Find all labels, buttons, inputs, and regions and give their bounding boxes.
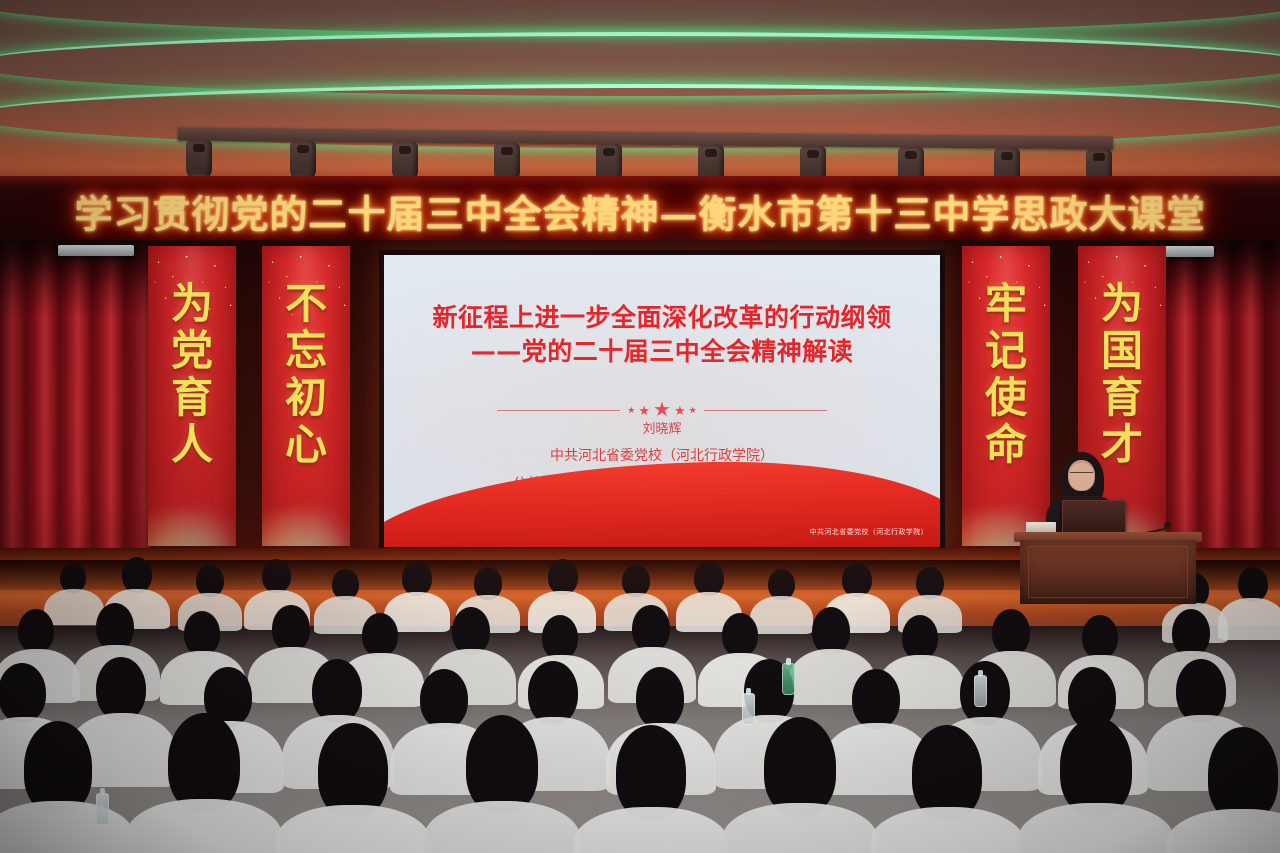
couplet-char: 人 bbox=[171, 421, 213, 468]
lecture-hall-scene: 学习贯彻党的二十届三中全会精神—衡水市第十三中学思政大课堂 为 党 育 人 不 … bbox=[0, 0, 1280, 853]
couplet-char: 忘 bbox=[285, 327, 327, 374]
star-icon: ★ bbox=[674, 404, 686, 417]
podium-body bbox=[1020, 540, 1196, 604]
couplet-char: 记 bbox=[985, 327, 1027, 374]
couplet-char: 国 bbox=[1101, 327, 1143, 374]
couplet-left-inner: 不 忘 初 心 bbox=[262, 246, 350, 546]
water-bottle bbox=[742, 693, 755, 725]
star-icon: ★ bbox=[638, 404, 650, 417]
couplet-left-outer: 为 党 育 人 bbox=[148, 246, 236, 546]
slide-title-line2: ——党的二十届三中全会精神解读 bbox=[384, 333, 940, 372]
presentation-slide: 新征程上进一步全面深化改革的行动纲领 ——党的二十届三中全会精神解读 ★ ★ ★… bbox=[384, 255, 940, 547]
couplet-char: 才 bbox=[1101, 421, 1143, 468]
slide-affiliation: 中共河北省委党校（河北行政学院） bbox=[384, 449, 940, 464]
couplet-char: 为 bbox=[171, 280, 213, 327]
divider-rule-left bbox=[497, 410, 620, 411]
ceiling-led-strip-3 bbox=[0, 80, 1280, 114]
led-banner-text: 学习贯彻党的二十届三中全会精神—衡水市第十三中学思政大课堂 bbox=[8, 184, 1273, 239]
couplet-char: 不 bbox=[285, 280, 327, 327]
couplet-char: 使 bbox=[985, 374, 1027, 421]
spotlight-icon bbox=[290, 141, 316, 181]
couplet-char: 为 bbox=[1101, 280, 1143, 327]
ceiling bbox=[0, 0, 1280, 182]
couplet-char: 初 bbox=[285, 374, 327, 421]
couplet-char: 党 bbox=[171, 327, 213, 374]
water-bottle bbox=[96, 793, 109, 825]
slide-presenter-name: 刘晓辉 bbox=[384, 423, 940, 437]
ceiling-led-strip-2 bbox=[0, 28, 1280, 62]
couplet-right-inner: 牢 记 使 命 bbox=[962, 246, 1050, 546]
star-icon: ★ bbox=[653, 400, 671, 420]
couplet-char: 心 bbox=[285, 421, 327, 468]
led-banner-panel: 学习贯彻党的二十届三中全会精神—衡水市第十三中学思政大课堂 bbox=[0, 176, 1280, 246]
star-group: ★ ★ ★ ★ ★ bbox=[627, 400, 696, 420]
divider-rule-right bbox=[704, 410, 827, 411]
spotlight-icon bbox=[186, 140, 212, 180]
glasses-icon bbox=[1070, 472, 1093, 478]
couplet-char: 育 bbox=[171, 374, 213, 421]
slide-footer-text: 中共河北省委党校（河北行政学院） bbox=[810, 527, 928, 537]
water-bottle bbox=[782, 663, 795, 695]
air-vent bbox=[58, 245, 134, 256]
star-icon: ★ bbox=[627, 406, 635, 415]
projection-screen: 新征程上进一步全面深化改革的行动纲领 ——党的二十届三中全会精神解读 ★ ★ ★… bbox=[379, 250, 945, 552]
couplet-char: 牢 bbox=[985, 280, 1027, 327]
water-bottle bbox=[974, 675, 987, 707]
slide-title-line1: 新征程上进一步全面深化改革的行动纲领 bbox=[384, 299, 940, 338]
slide-star-divider: ★ ★ ★ ★ ★ bbox=[497, 400, 827, 420]
couplet-char: 命 bbox=[985, 421, 1027, 468]
couplet-char: 育 bbox=[1101, 374, 1143, 421]
star-icon: ★ bbox=[689, 406, 697, 415]
